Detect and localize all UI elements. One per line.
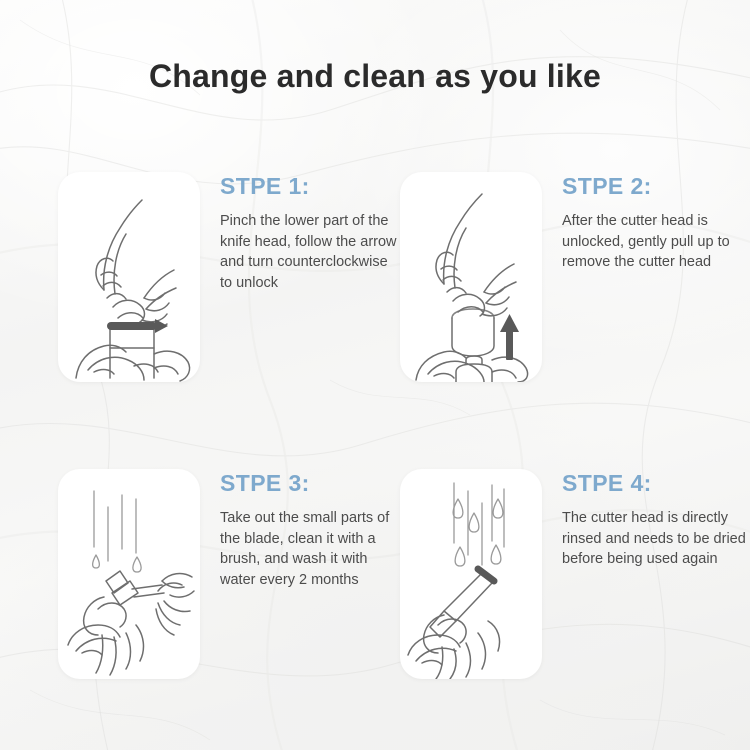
step-4-illustration-card [400, 469, 542, 679]
twist-ring-arrow [107, 319, 168, 333]
step-2-heading: STPE 2: [562, 174, 748, 199]
step-3-text: STPE 3: Take out the small parts of the … [220, 469, 400, 591]
step-card-1: STPE 1: Pinch the lower part of the knif… [52, 172, 392, 402]
step-2-body: After the cutter head is unlocked, gentl… [562, 211, 748, 273]
water-streams [94, 491, 136, 561]
rinse-shaver-under-water-icon [400, 469, 542, 679]
up-arrow [500, 314, 519, 360]
step-2-illustration-card [400, 172, 542, 382]
step-card-3: STPE 3: Take out the small parts of the … [52, 469, 392, 699]
step-1-text: STPE 1: Pinch the lower part of the knif… [220, 172, 400, 294]
twist-cutter-head-icon [58, 172, 200, 382]
brush-blade-under-water-icon [58, 469, 200, 679]
step-card-2: STPE 2: After the cutter head is unlocke… [394, 172, 734, 402]
step-4-text: STPE 4: The cutter head is directly rins… [562, 469, 750, 570]
step-1-illustration-card [58, 172, 200, 382]
pull-up-cutter-head-icon [400, 172, 542, 382]
step-4-heading: STPE 4: [562, 471, 750, 496]
step-card-4: STPE 4: The cutter head is directly rins… [394, 469, 734, 699]
step-2-text: STPE 2: After the cutter head is unlocke… [562, 172, 748, 273]
water-droplets [93, 555, 142, 572]
step-3-heading: STPE 3: [220, 471, 400, 496]
step-3-illustration-card [58, 469, 200, 679]
steps-grid: STPE 1: Pinch the lower part of the knif… [0, 0, 750, 750]
step-3-body: Take out the small parts of the blade, c… [220, 508, 400, 590]
step-1-heading: STPE 1: [220, 174, 400, 199]
step-1-body: Pinch the lower part of the knife head, … [220, 211, 400, 293]
water-droplets [453, 499, 503, 566]
step-4-body: The cutter head is directly rinsed and n… [562, 508, 750, 570]
infographic-page: Change and clean as you like [0, 0, 750, 750]
